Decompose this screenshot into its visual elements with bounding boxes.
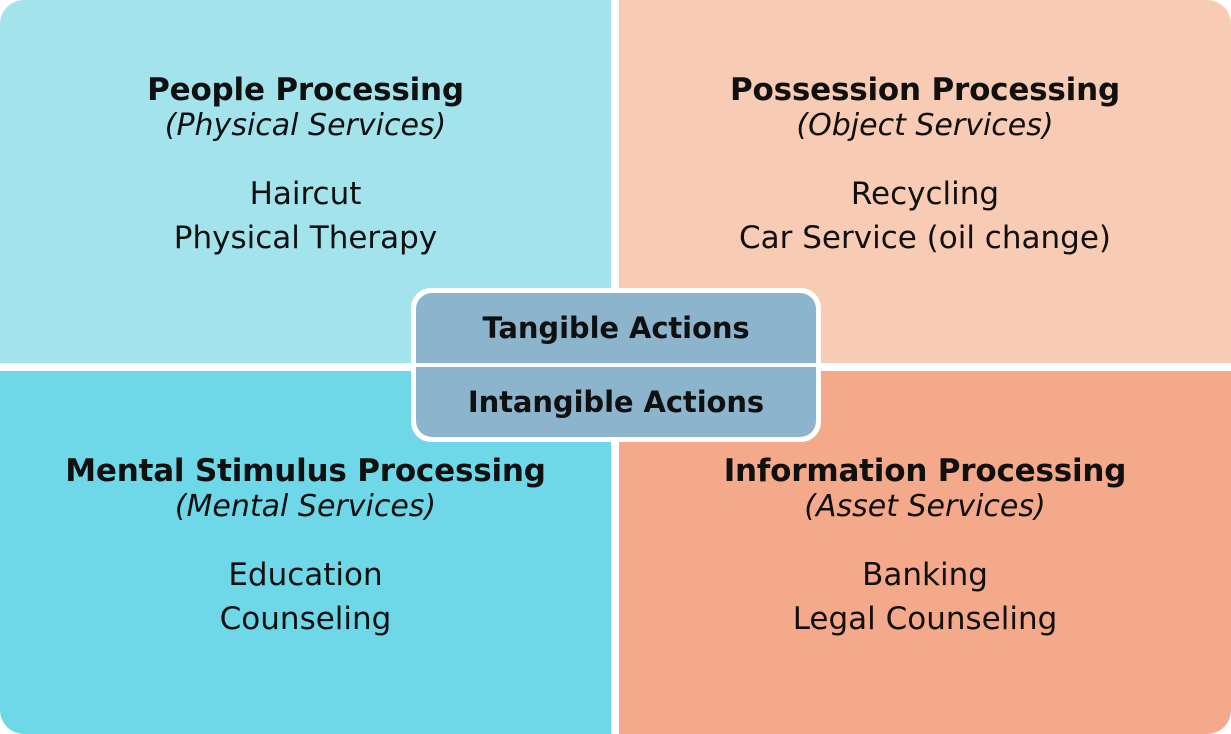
quadrant-title: Possession Processing: [730, 74, 1120, 107]
quadrant-example: Education: [220, 553, 392, 597]
quadrant-subtitle: (Physical Services): [165, 107, 446, 145]
quadrant-example-list: Recycling Car Service (oil change): [739, 172, 1111, 260]
quadrant-example: Physical Therapy: [174, 216, 437, 260]
quadrant-title: People Processing: [147, 74, 464, 107]
center-label-intangible-actions: Intangible Actions: [416, 367, 816, 437]
quadrant-subtitle: (Object Services): [796, 107, 1053, 145]
quadrant-example-list: Haircut Physical Therapy: [174, 172, 437, 260]
quadrant-example: Recycling: [739, 172, 1111, 216]
quadrant-example: Haircut: [174, 172, 437, 216]
quadrant-title: Information Processing: [724, 455, 1127, 488]
quadrant-title: Mental Stimulus Processing: [65, 455, 545, 488]
service-processing-matrix: People Processing (Physical Services) Ha…: [0, 0, 1231, 734]
quadrant-example: Banking: [793, 553, 1058, 597]
quadrant-example: Car Service (oil change): [739, 216, 1111, 260]
quadrant-example: Counseling: [220, 597, 392, 641]
center-label-tangible-actions: Tangible Actions: [416, 293, 816, 363]
center-axis-labels: Tangible Actions Intangible Actions: [411, 288, 821, 442]
quadrant-example-list: Education Counseling: [220, 553, 392, 641]
quadrant-subtitle: (Mental Services): [175, 488, 436, 526]
quadrant-example: Legal Counseling: [793, 597, 1058, 641]
quadrant-subtitle: (Asset Services): [804, 488, 1045, 526]
quadrant-example-list: Banking Legal Counseling: [793, 553, 1058, 641]
